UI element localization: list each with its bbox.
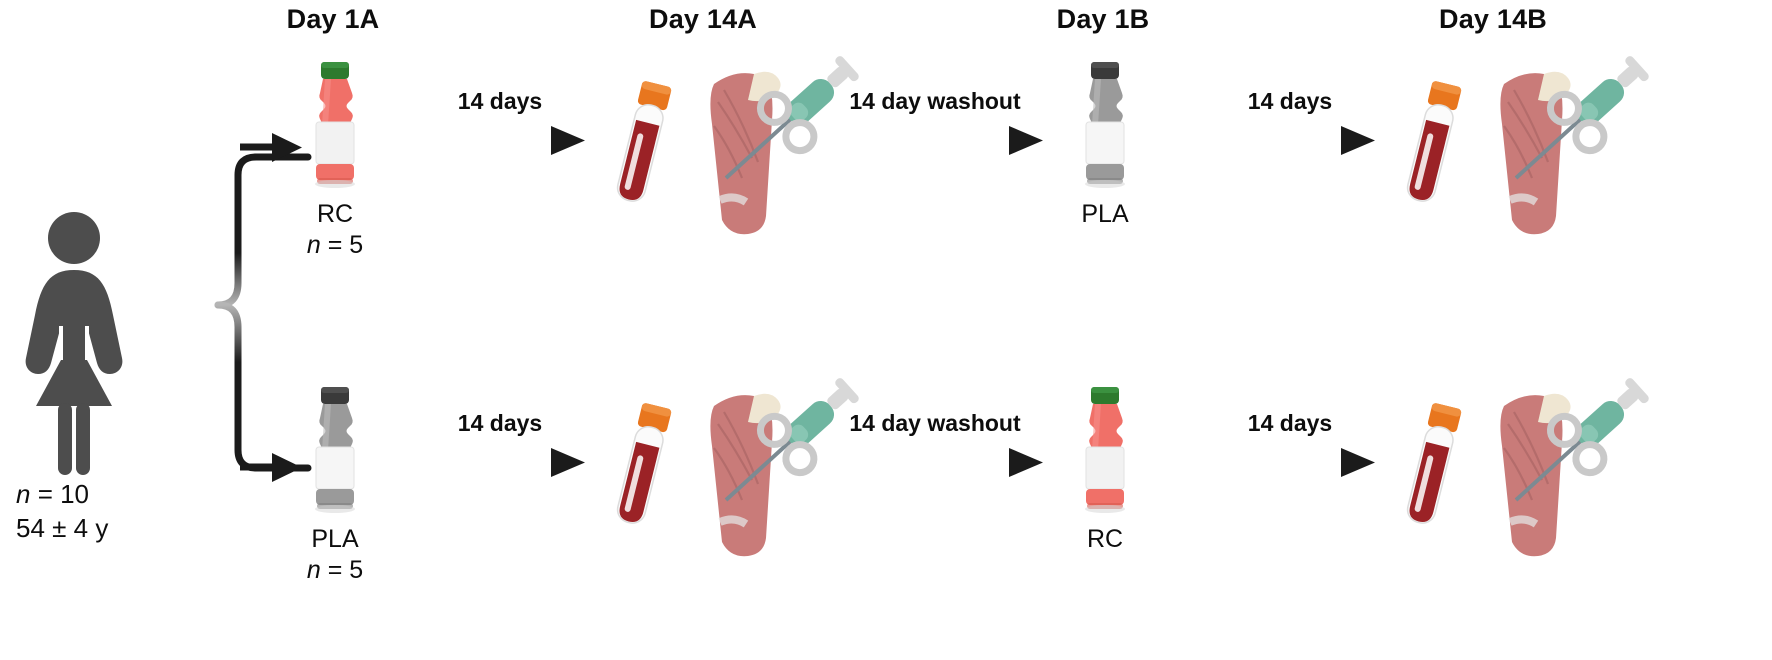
pla-bottle-icon: [1073, 60, 1137, 200]
arm-b-day14b-blood-tube: [1396, 400, 1466, 545]
arm-b-day1b-rc-bottle: [1073, 385, 1137, 525]
arm-a-day1a-product-label: RC: [253, 200, 417, 230]
arm-b-washout-arrow: [815, 444, 1055, 480]
arm-a-day1b-product-label: PLA: [1023, 200, 1187, 230]
column-header-day-14b: Day 14B: [1393, 4, 1593, 35]
arm-a-arrow2: [1195, 122, 1385, 158]
n-value: = 5: [321, 231, 363, 259]
arm-b-day1a-sample-size: n = 5: [253, 556, 417, 586]
arm-b-arrow1: [405, 444, 595, 480]
arm-b-arrow1-label: 14 days: [405, 410, 595, 437]
arm-b-washout-label: 14 day washout: [815, 410, 1055, 437]
column-header-day-14a: Day 14A: [603, 4, 803, 35]
arm-b-arrow2-label: 14 days: [1195, 410, 1385, 437]
subject-sample-size: n = 10: [16, 478, 89, 512]
arm-a-day14b-blood-tube: [1396, 78, 1466, 223]
arm-b-arrow2: [1195, 444, 1385, 480]
arm-a-day14a-blood-tube: [606, 78, 676, 223]
rc-bottle-icon: [1073, 385, 1137, 525]
subject-group: [14, 210, 134, 440]
subject-n-value: = 10: [30, 479, 89, 509]
randomization-fork: [130, 120, 320, 500]
arm-b-day1a-pla-bottle: [303, 385, 367, 525]
subject-age: 54 ± 4 y: [16, 512, 108, 546]
subject-n-symbol: n: [16, 479, 30, 509]
arm-b-day14a-blood-tube: [606, 400, 676, 545]
n-value: = 5: [321, 556, 363, 584]
arm-a-arrow1: [405, 122, 595, 158]
study-design-diagram: Day 1A Day 14A Day 1B Day 14B n = 10 54 …: [0, 0, 1772, 660]
arm-a-day14b-muscle-biopsy: [1480, 50, 1660, 250]
arm-a-day1a-sample-size: n = 5: [253, 231, 417, 261]
female-person-icon: [14, 210, 134, 440]
arm-b-day1b-product-label: RC: [1023, 525, 1187, 555]
arm-b-day1a-product-label: PLA: [253, 525, 417, 555]
n-symbol: n: [307, 231, 321, 259]
arm-a-washout-arrow: [815, 122, 1055, 158]
arm-a-arrow2-label: 14 days: [1195, 88, 1385, 115]
arm-b-day14b-muscle-biopsy: [1480, 372, 1660, 572]
n-symbol: n: [307, 556, 321, 584]
arm-a-washout-label: 14 day washout: [815, 88, 1055, 115]
arm-a-day1b-pla-bottle: [1073, 60, 1137, 200]
arm-a-arrow1-label: 14 days: [405, 88, 595, 115]
pla-bottle-icon: [303, 385, 367, 525]
column-header-day-1a: Day 1A: [233, 4, 433, 35]
column-header-day-1b: Day 1B: [1003, 4, 1203, 35]
rc-bottle-icon: [303, 60, 367, 200]
arm-a-day1a-rc-bottle: [303, 60, 367, 200]
